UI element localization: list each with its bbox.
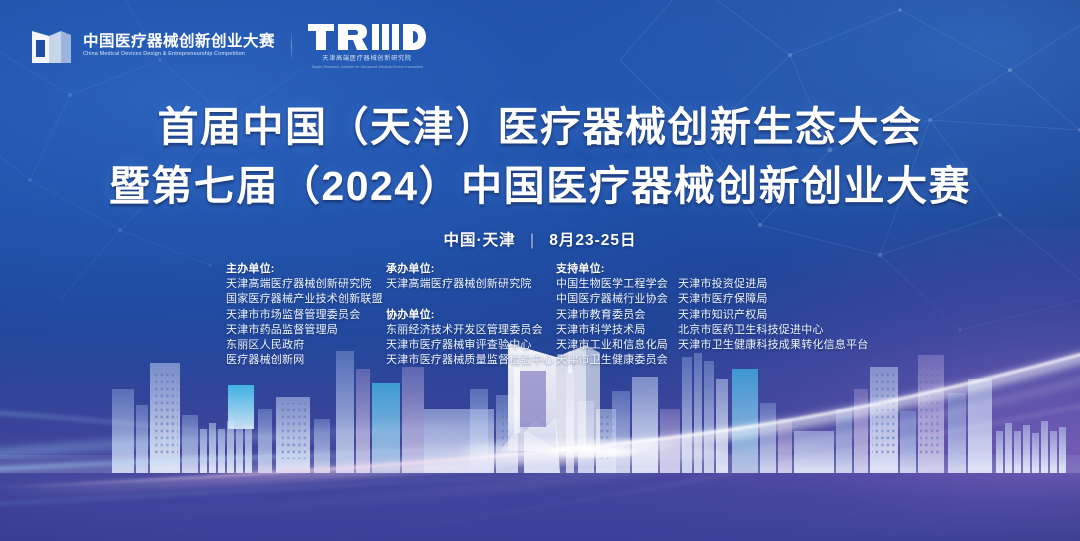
host-heading: 主办单位: (226, 262, 386, 277)
organizer-column: 承办单位: 天津高端医疗器械创新研究院 协办单位: 东丽经济技术开发区管理委员会… (386, 262, 556, 368)
supporter-item: 天津市知识产权局 (678, 308, 888, 323)
supporter-item: 天津市投资促进局 (678, 277, 888, 292)
organizer-item: 天津高端医疗器械创新研究院 (386, 277, 556, 292)
supporter-item: 中国医疗器械行业协会 (556, 292, 678, 307)
host-item: 医疗器械创新网 (226, 353, 386, 368)
supporter-item: 中国生物医学工程学会 (556, 277, 678, 292)
host-item: 东丽区人民政府 (226, 338, 386, 353)
event-location: 中国·天津 (443, 232, 515, 249)
supporter-item: 北京市医药卫生科技促进中心 (678, 323, 888, 338)
coorganizer-item: 天津市医疗器械质量监督检验中心 (386, 353, 556, 368)
organizers-block: 主办单位: 天津高端医疗器械创新研究院 国家医疗器械产业技术创新联盟 天津市市场… (226, 262, 888, 368)
host-item: 国家医疗器械产业技术创新联盟 (226, 292, 386, 307)
supporters-subcolumn-1: 中国生物医学工程学会 中国医疗器械行业协会 天津市教育委员会 天津市科学技术局 … (556, 277, 678, 368)
meta-separator: | (530, 232, 535, 250)
coorganizer-heading: 协办单位: (386, 308, 556, 323)
logo-bar: 中国医疗器械创新创业大赛 China Medical Devices Desig… (30, 22, 426, 69)
supporter-item: 天津市卫生健康委员会 (556, 353, 678, 368)
host-item: 天津市市场监督管理委员会 (226, 308, 386, 323)
triid-wordmark-icon (308, 22, 426, 52)
title-line-2: 暨第七届（2024）中国医疗器械创新创业大赛 (0, 157, 1080, 216)
coorganizer-item: 天津市医疗器械审评查验中心 (386, 338, 556, 353)
supporter-item: 天津市科学技术局 (556, 323, 678, 338)
supporter-item: 天津市卫生健康科技成果转化信息平台 (678, 338, 888, 353)
open-book-logo-mark-icon (30, 25, 74, 67)
supporters-heading: 支持单位: (556, 262, 888, 277)
host-item: 天津高端医疗器械创新研究院 (226, 277, 386, 292)
title-line-1: 首届中国（天津）医疗器械创新生态大会 (0, 98, 1080, 157)
institute-logo[interactable]: 天津高端医疗器械创新研究院 Tianjin Research Institute… (308, 22, 426, 69)
competition-logo-en: China Medical Devices Design & Entrepren… (83, 52, 275, 58)
supporters-column: 支持单位: 中国生物医学工程学会 中国医疗器械行业协会 天津市教育委员会 天津市… (556, 262, 888, 368)
institute-logo-cn: 天津高端医疗器械创新研究院 (322, 55, 412, 63)
competition-logo-cn: 中国医疗器械创新创业大赛 (83, 34, 275, 50)
logo-divider (291, 31, 292, 61)
title-block: 首届中国（天津）医疗器械创新生态大会 暨第七届（2024）中国医疗器械创新创业大… (0, 98, 1080, 217)
event-date: 8月23-25日 (549, 232, 636, 249)
organizer-spacer (386, 292, 556, 307)
supporters-grid: 中国生物医学工程学会 中国医疗器械行业协会 天津市教育委员会 天津市科学技术局 … (556, 277, 888, 368)
supporters-subcolumn-2: 天津市投资促进局 天津市医疗保障局 天津市知识产权局 北京市医药卫生科技促进中心… (678, 277, 888, 368)
supporter-item: 天津市教育委员会 (556, 308, 678, 323)
host-column: 主办单位: 天津高端医疗器械创新研究院 国家医疗器械产业技术创新联盟 天津市市场… (226, 262, 386, 368)
event-meta: 中国·天津 | 8月23-25日 (0, 228, 1080, 250)
supporter-item: 天津市医疗保障局 (678, 292, 888, 307)
supporter-item: 天津市工业和信息化局 (556, 338, 678, 353)
coorganizer-item: 东丽经济技术开发区管理委员会 (386, 323, 556, 338)
host-item: 天津市药品监督管理局 (226, 323, 386, 338)
organizer-heading: 承办单位: (386, 262, 556, 277)
competition-logo[interactable]: 中国医疗器械创新创业大赛 China Medical Devices Desig… (30, 25, 275, 67)
institute-logo-en: Tianjin Research Institute for Advanced … (311, 66, 423, 70)
conference-banner: 中国医疗器械创新创业大赛 China Medical Devices Desig… (0, 0, 1080, 541)
